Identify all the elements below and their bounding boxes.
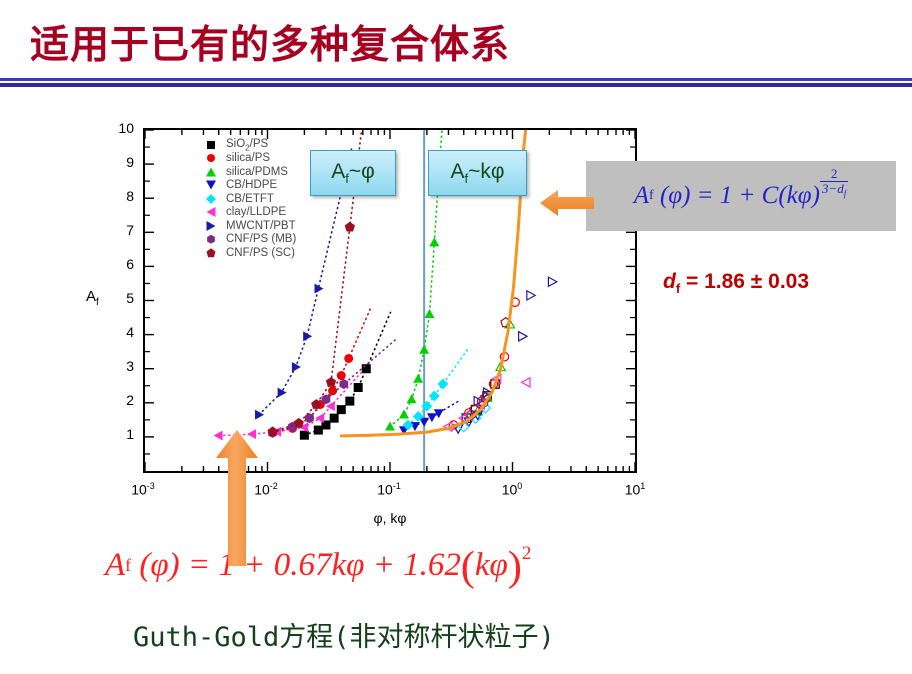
legend-label: CNF/PS (SC)	[226, 247, 295, 259]
triangle-down-marker-icon	[203, 179, 219, 192]
orange-left-arrow-icon	[539, 188, 595, 218]
page-title: 适用于已有的多种复合体系	[30, 14, 510, 70]
legend-item-sio2-ps: SiO2/PS	[203, 138, 296, 152]
divider-line-bottom	[0, 83, 912, 87]
x-tick-label: 10-3	[118, 480, 168, 496]
exponent-fraction: 2 3−df	[820, 167, 848, 199]
legend-label: silica/PDMS	[226, 166, 288, 178]
y-tick-label: 6	[108, 259, 134, 269]
chart-legend: SiO2/PS silica/PS silica/PDMS CB/HDPE CB…	[203, 138, 296, 260]
callout-af-proportional-kphi: Af~kφ	[428, 150, 527, 196]
diamond-marker-icon	[203, 192, 219, 205]
y-axis-title: Af	[86, 288, 99, 308]
y-tick-label: 2	[108, 395, 134, 405]
y-tick-label: 7	[108, 225, 134, 235]
callout-text: Af~kφ	[450, 160, 504, 186]
y-tick-label: 10	[108, 123, 134, 133]
orange-up-arrow-icon	[214, 428, 262, 568]
y-tick-label: 3	[108, 361, 134, 371]
circle-marker-icon	[203, 152, 219, 165]
y-tick-label: 9	[108, 157, 134, 167]
exponent-denominator: 3−df	[820, 181, 848, 199]
legend-item-cb-hdpe: CB/HDPE	[203, 179, 296, 193]
legend-item-cnf-ps-mb: CNF/PS (MB)	[203, 233, 296, 247]
legend-item-clay-lldpe: clay/LLDPE	[203, 206, 296, 220]
equation-guth-gold: Af (φ) = 1 + 0.67kφ + 1.62 (kφ)2	[105, 547, 531, 584]
hexagon-marker-icon	[203, 233, 219, 246]
slide-root: 适用于已有的多种复合体系 10 9 8 7 6 5 4 3 2 1 10-3 1…	[0, 0, 912, 674]
title-divider	[0, 78, 912, 87]
exponent-numerator: 2	[829, 167, 840, 181]
x-tick-label: 101	[610, 480, 660, 496]
fractal-dimension-value: df = 1.86 ± 0.03	[663, 270, 809, 296]
x-tick-label: 10-1	[364, 480, 414, 496]
legend-label: CB/HDPE	[226, 179, 277, 191]
equation-box-gray: Af (φ) = 1 + C(kφ) 2 3−df	[586, 161, 896, 231]
y-tick-label: 4	[108, 327, 134, 337]
legend-item-cnf-ps-sc: CNF/PS (SC)	[203, 246, 296, 260]
x-tick-label: 100	[487, 480, 537, 496]
triangle-up-marker-icon	[203, 165, 219, 178]
callout-af-proportional-phi: Af~φ	[310, 150, 396, 196]
legend-item-mwcnt-pbt: MWCNT/PBT	[203, 219, 296, 233]
square-marker-icon	[203, 138, 219, 151]
legend-label: clay/LLDPE	[226, 206, 286, 218]
legend-label: silica/PS	[226, 152, 270, 164]
legend-label: CNF/PS (MB)	[226, 233, 296, 245]
equation-scaling-law: Af (φ) = 1 + C(kφ) 2 3−df	[634, 180, 848, 212]
y-tick-label: 8	[108, 191, 134, 201]
equation-caption: Guth-Gold方程(非对称杆状粒子)	[133, 615, 555, 654]
legend-item-silica-pdms: silica/PDMS	[203, 165, 296, 179]
legend-item-cb-etft: CB/ETFT	[203, 192, 296, 206]
legend-label: MWCNT/PBT	[226, 220, 296, 232]
triangle-right-marker-icon	[203, 219, 219, 232]
legend-label: CB/ETFT	[226, 193, 274, 205]
y-tick-label: 5	[108, 293, 134, 303]
y-tick-label: 1	[108, 429, 134, 439]
pentagon-marker-icon	[203, 246, 219, 259]
callout-text: Af~φ	[331, 160, 375, 186]
triangle-left-marker-icon	[203, 206, 219, 219]
legend-label: SiO2/PS	[226, 138, 268, 152]
legend-item-silica-ps: silica/PS	[203, 152, 296, 166]
